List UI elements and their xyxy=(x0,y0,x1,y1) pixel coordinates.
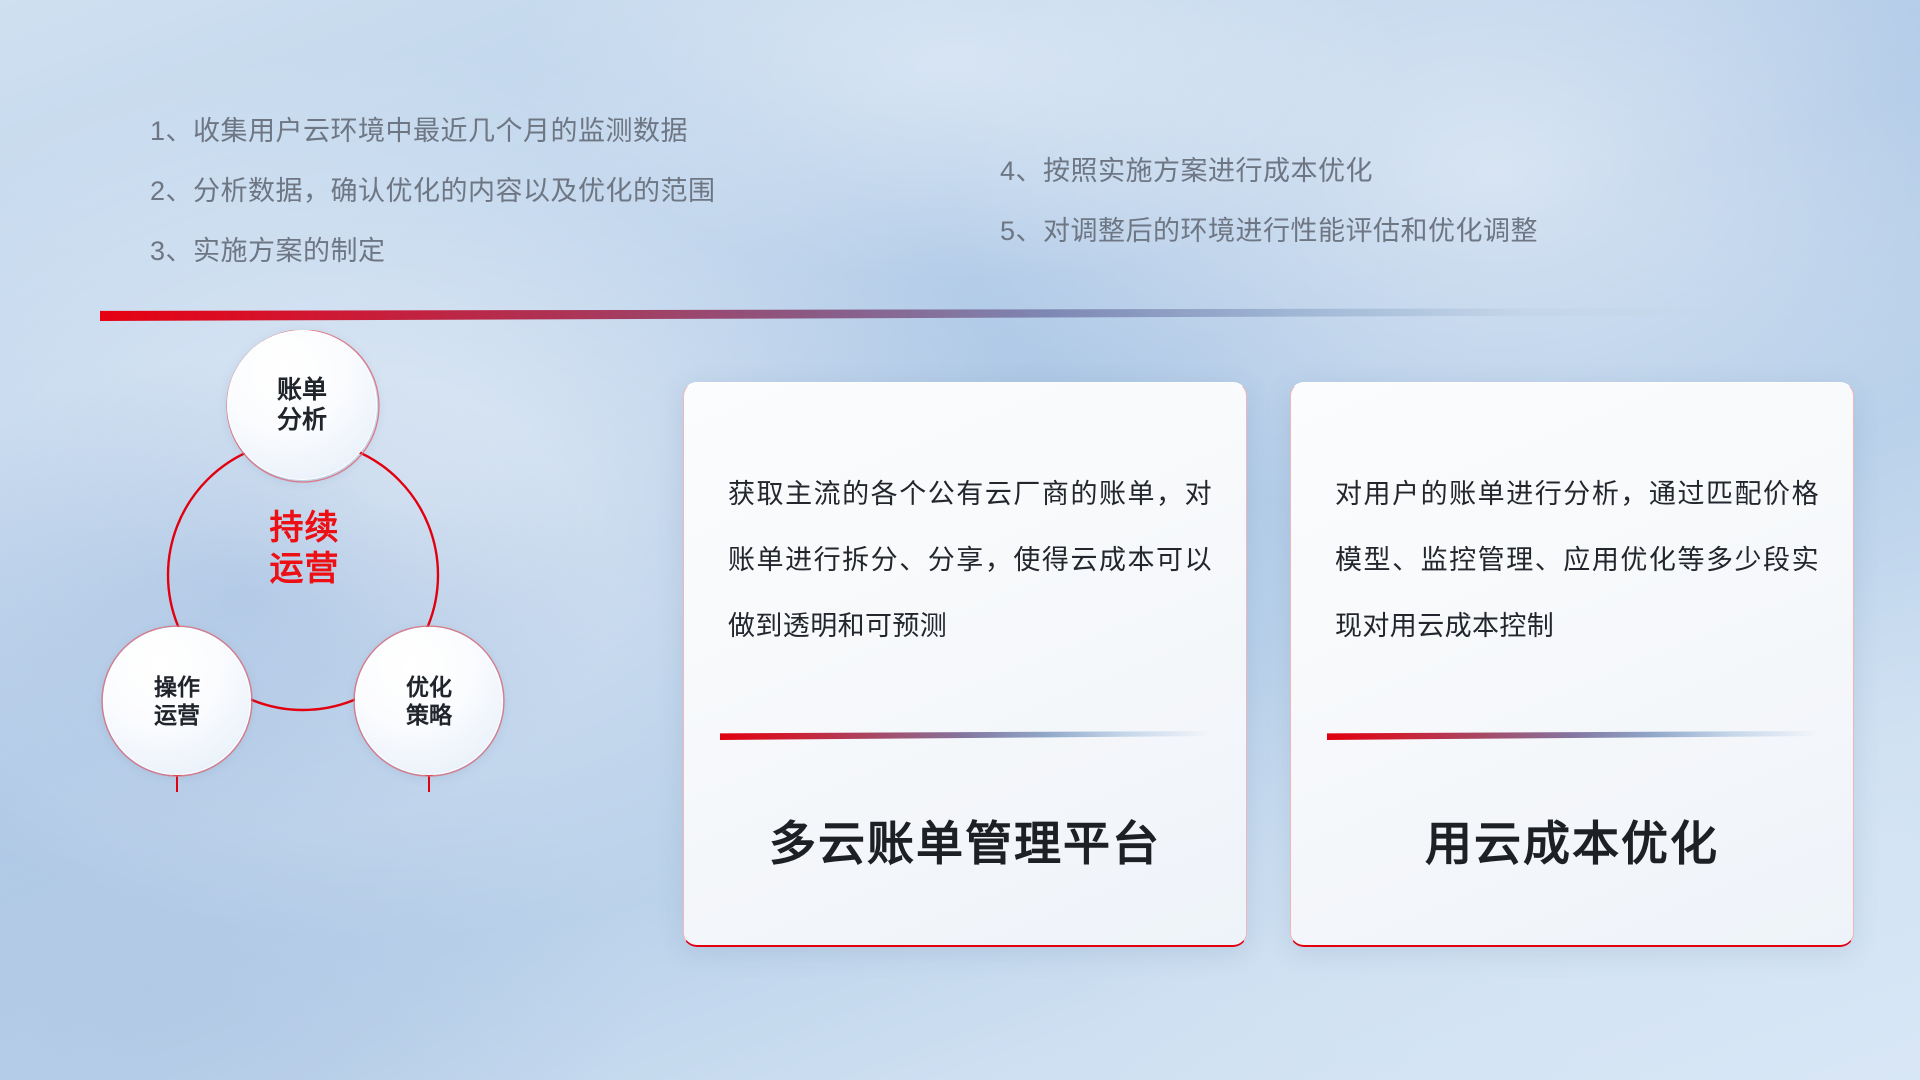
bullet-item-3: 3、实施方案的制定 xyxy=(150,238,716,265)
card-body-text: 获取主流的各个公有云厂商的账单，对账单进行拆分、分享，使得云成本可以做到透明和可… xyxy=(728,461,1212,659)
bullet-list-left: 1、收集用户云环境中最近几个月的监测数据 2、分析数据，确认优化的内容以及优化的… xyxy=(150,118,716,265)
card-title: 用云成本优化 xyxy=(1291,805,1853,874)
card-title: 多云账单管理平台 xyxy=(684,805,1246,874)
divider-wedge xyxy=(100,308,1800,321)
venn-bubble-label-line2: 策略 xyxy=(406,701,452,729)
bullet-item-5: 5、对调整后的环境进行性能评估和优化调整 xyxy=(1000,218,1538,245)
venn-center-label-line2: 运营 xyxy=(227,549,382,590)
card-multicloud-billing-platform[interactable]: 获取主流的各个公有云厂商的账单，对账单进行拆分、分享，使得云成本可以做到透明和可… xyxy=(683,382,1247,947)
bullet-item-4: 4、按照实施方案进行成本优化 xyxy=(1000,158,1538,185)
venn-bubble-optimization-strategy[interactable]: 优化 策略 xyxy=(355,627,503,775)
venn-diagram: 账单 分析 操作 运营 优化 策略 持续 运营 xyxy=(75,330,575,830)
venn-bubble-operations[interactable]: 操作 运营 xyxy=(103,627,251,775)
slide-canvas: 1、收集用户云环境中最近几个月的监测数据 2、分析数据，确认优化的内容以及优化的… xyxy=(0,0,1920,1080)
card-divider-wedge xyxy=(1327,731,1817,740)
venn-bubble-label-line2: 分析 xyxy=(277,405,327,436)
venn-center-label: 持续 运营 xyxy=(227,508,382,591)
venn-bubble-label-line1: 操作 xyxy=(154,673,200,701)
bullet-list-right: 4、按照实施方案进行成本优化 5、对调整后的环境进行性能评估和优化调整 xyxy=(1000,158,1538,245)
card-cloud-cost-optimization[interactable]: 对用户的账单进行分析，通过匹配价格模型、监控管理、应用优化等多少段实现对用云成本… xyxy=(1290,382,1854,947)
bullet-item-2: 2、分析数据，确认优化的内容以及优化的范围 xyxy=(150,178,716,205)
card-body-text: 对用户的账单进行分析，通过匹配价格模型、监控管理、应用优化等多少段实现对用云成本… xyxy=(1335,461,1819,659)
venn-bubble-label-line1: 账单 xyxy=(277,375,327,406)
venn-bubble-billing-analysis[interactable]: 账单 分析 xyxy=(227,330,377,480)
card-divider xyxy=(1327,731,1817,740)
card-divider xyxy=(720,731,1210,740)
bullet-item-1: 1、收集用户云环境中最近几个月的监测数据 xyxy=(150,118,716,145)
section-divider xyxy=(100,308,1800,321)
venn-bubble-label-line2: 运营 xyxy=(154,701,200,729)
venn-bubble-label-line1: 优化 xyxy=(406,673,452,701)
card-divider-wedge xyxy=(720,731,1210,740)
venn-center-label-line1: 持续 xyxy=(227,508,382,549)
